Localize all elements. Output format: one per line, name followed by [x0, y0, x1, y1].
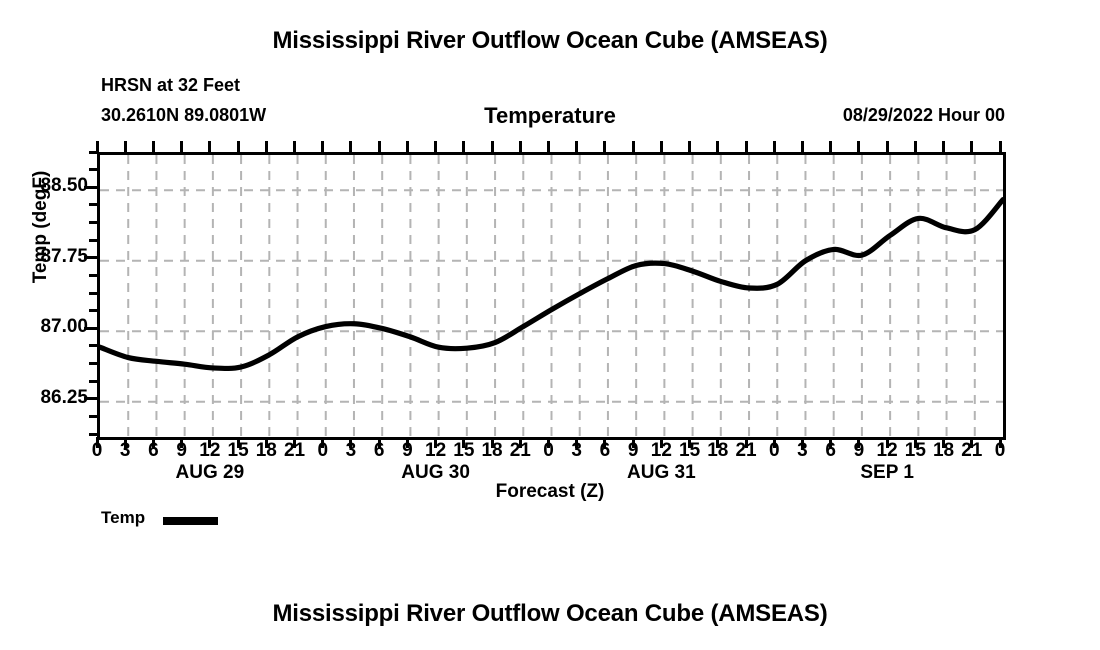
page-title-bottom: Mississippi River Outflow Ocean Cube (AM… [0, 600, 1100, 628]
x-tick-top [547, 141, 550, 152]
y-tick-label: 88.50 [0, 175, 88, 197]
x-axis-day-label: AUG 29 [140, 462, 280, 484]
x-tick-top [434, 141, 437, 152]
x-tick-top [519, 141, 522, 152]
x-axis-label: Forecast (Z) [0, 481, 1100, 503]
x-tick-top [491, 141, 494, 152]
x-tick-top [745, 141, 748, 152]
y-tick-minor [89, 433, 97, 436]
x-tick-top [660, 141, 663, 152]
y-axis-label: Temp (degF) [30, 142, 52, 312]
y-tick-label: 87.00 [0, 316, 88, 338]
x-tick-top [124, 141, 127, 152]
y-tick-minor [89, 344, 97, 347]
y-tick-minor [89, 151, 97, 154]
plot-area [97, 152, 1006, 440]
x-axis-day-label: AUG 31 [591, 462, 731, 484]
x-tick-top [349, 141, 352, 152]
station-depth-label: HRSN at 32 Feet [101, 75, 240, 96]
chart-svg [100, 155, 1003, 437]
x-tick-top [152, 141, 155, 152]
x-axis-day-label: AUG 30 [366, 462, 506, 484]
x-tick-top [575, 141, 578, 152]
x-tick-top [857, 141, 860, 152]
y-tick-minor [89, 203, 97, 206]
x-tick-top [801, 141, 804, 152]
x-tick-top [632, 141, 635, 152]
y-tick-label: 87.75 [0, 246, 88, 268]
x-tick-top [406, 141, 409, 152]
x-tick-top [265, 141, 268, 152]
page-title-top: Mississippi River Outflow Ocean Cube (AM… [0, 27, 1100, 55]
x-tick-top [886, 141, 889, 152]
x-tick-top [829, 141, 832, 152]
chart-page: Mississippi River Outflow Ocean Cube (AM… [0, 0, 1100, 650]
x-tick-label: 0 [980, 440, 1020, 462]
x-tick-top [970, 141, 973, 152]
legend-label: Temp [101, 508, 145, 528]
y-tick-minor [89, 274, 97, 277]
x-tick-top [914, 141, 917, 152]
x-tick-top [180, 141, 183, 152]
plot-inner [100, 155, 1003, 437]
x-tick-top [603, 141, 606, 152]
x-tick-top [293, 141, 296, 152]
gridlines [100, 155, 1003, 437]
y-tick-minor [89, 415, 97, 418]
y-tick-minor [89, 221, 97, 224]
y-tick-minor [89, 168, 97, 171]
legend-line-swatch [163, 517, 218, 525]
x-tick-top [773, 141, 776, 152]
x-tick-top [999, 141, 1002, 152]
x-tick-top [462, 141, 465, 152]
x-tick-top [688, 141, 691, 152]
x-tick-top [378, 141, 381, 152]
y-tick-minor [89, 362, 97, 365]
x-axis-day-label: SEP 1 [817, 462, 957, 484]
x-tick-top [208, 141, 211, 152]
y-tick-minor [89, 309, 97, 312]
y-tick-minor [89, 239, 97, 242]
y-tick-label: 86.25 [0, 387, 88, 409]
model-run-time-label: 08/29/2022 Hour 00 [843, 105, 1005, 126]
x-tick-top [942, 141, 945, 152]
x-tick-top [237, 141, 240, 152]
y-tick-minor [89, 292, 97, 295]
x-tick-top [321, 141, 324, 152]
y-tick-minor [89, 380, 97, 383]
x-tick-top [716, 141, 719, 152]
